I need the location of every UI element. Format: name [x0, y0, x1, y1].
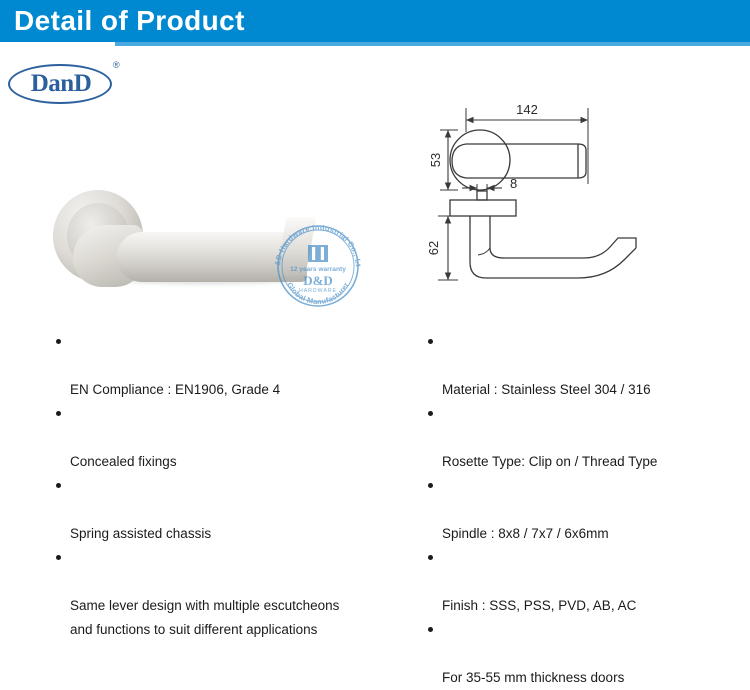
spec-item-text: Concealed fixings — [70, 454, 177, 469]
spec-item-text: EN Compliance : EN1906, Grade 4 — [70, 382, 280, 397]
spec-item-text: Spindle : 8x8 / 7x7 / 6x6mm — [442, 526, 609, 541]
dimension-label-projection: 62 — [428, 241, 441, 255]
spec-item: Finish : SSS, PSS, PVD, AB, AC — [428, 546, 738, 618]
spec-item: EN Compliance : EN1906, Grade 4 — [56, 330, 386, 402]
dimension-label-rosette-diameter: 53 — [428, 153, 443, 167]
bullet-icon — [56, 339, 61, 344]
drawing-lever-side-top — [490, 216, 636, 258]
watermark-seal: D&D Hardware Industrial Co., Ltd Global … — [268, 218, 368, 314]
spec-item: Spindle : 8x8 / 7x7 / 6x6mm — [428, 474, 738, 546]
registered-trademark-icon: ® — [113, 60, 120, 70]
brand-logo-text: DanD — [16, 70, 106, 98]
page-title: Detail of Product — [14, 3, 245, 39]
drawing-rosette-circle — [450, 130, 510, 190]
spec-item-text: For 35-55 mm thickness doors — [442, 670, 624, 685]
drawing-spindle-stub — [477, 191, 487, 200]
bullet-icon — [56, 483, 61, 488]
spec-item: For 35-55 mm thickness doors — [428, 618, 738, 690]
spec-item: Concealed fixings — [56, 402, 386, 474]
spec-item-text: Same lever design with multiple escutche… — [70, 598, 339, 637]
spec-item-text: Material : Stainless Steel 304 / 316 — [442, 382, 651, 397]
spec-item-text: Spring assisted chassis — [70, 526, 211, 541]
spec-item: Rosette Type: Clip on / Thread Type — [428, 402, 738, 474]
dimension-label-spindle: 8 — [510, 176, 517, 191]
drawing-lever-top-neck — [452, 144, 466, 178]
spec-item: Material : Stainless Steel 304 / 316 — [428, 330, 738, 402]
watermark-sub-brand-text: HARDWARE — [299, 288, 337, 294]
brand-logo: DanD ® — [8, 58, 138, 108]
spec-list-left: EN Compliance : EN1906, Grade 4 Conceale… — [56, 330, 386, 642]
header-banner-underline — [115, 42, 750, 46]
bullet-icon — [428, 483, 433, 488]
drawing-rosette-plate — [450, 200, 516, 216]
spec-list-right: Material : Stainless Steel 304 / 316 Ros… — [428, 330, 738, 690]
spec-item-text: Rosette Type: Clip on / Thread Type — [442, 454, 657, 469]
spec-item: Spring assisted chassis — [56, 474, 386, 546]
technical-drawings: 142 53 8 62 — [428, 92, 668, 312]
bullet-icon — [428, 411, 433, 416]
watermark-warranty-text: 12 years warranty — [290, 266, 346, 273]
bullet-icon — [428, 627, 433, 632]
bullet-icon — [56, 555, 61, 560]
spec-item: Same lever design with multiple escutche… — [56, 546, 386, 642]
drawing-lever-side-bottom — [470, 216, 636, 278]
drawing-lever-top-outline — [466, 144, 586, 178]
spec-item-text: Finish : SSS, PSS, PVD, AB, AC — [442, 598, 636, 613]
bullet-icon — [428, 555, 433, 560]
bullet-icon — [56, 411, 61, 416]
watermark-brand-text: D&D — [303, 273, 333, 288]
dimension-label-length: 142 — [516, 102, 538, 117]
bullet-icon — [428, 339, 433, 344]
